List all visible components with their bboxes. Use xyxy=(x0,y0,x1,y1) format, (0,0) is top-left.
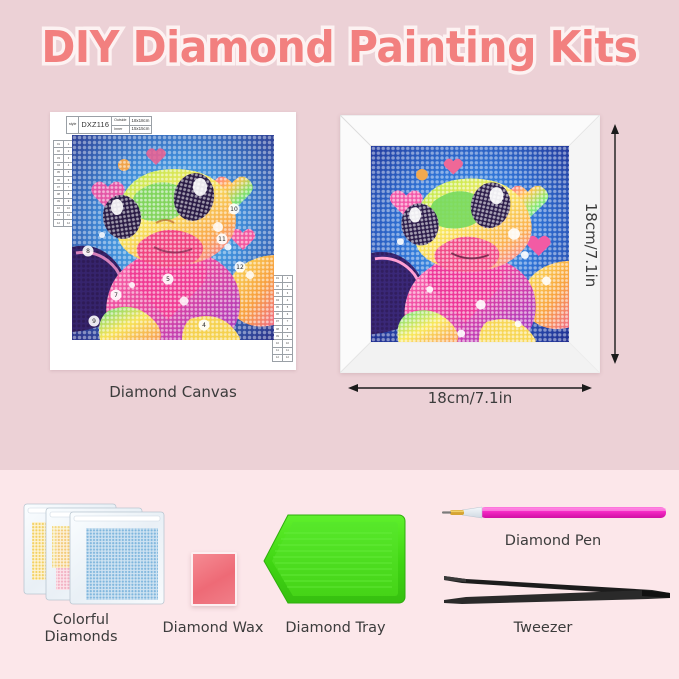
legend-index: 10 xyxy=(283,340,293,347)
turtle-artwork-svg: 10 11 12 5 7 9 4 8 xyxy=(72,135,274,340)
legend-row: 088 xyxy=(54,191,74,198)
svg-text:4: 4 xyxy=(202,322,206,329)
label-colorful-diamonds: Colorful Diamonds xyxy=(16,612,146,645)
colorful-diamonds-bags xyxy=(22,500,167,605)
label-diamond-wax: Diamond Wax xyxy=(158,620,268,637)
diamond-tray xyxy=(262,513,407,605)
legend-index: 12 xyxy=(283,354,293,361)
label-colorful-diamonds-line2: Diamonds xyxy=(16,629,146,646)
framed-artwork-card xyxy=(340,115,600,373)
legend-row: 055 xyxy=(54,169,74,176)
legend-index: 7 xyxy=(283,318,293,325)
legend-row: 1212 xyxy=(54,220,74,227)
legend-code: 06 xyxy=(273,311,283,318)
diamond-pen-svg xyxy=(440,505,666,521)
diamond-canvas-caption: Diamond Canvas xyxy=(50,383,296,401)
label-colorful-diamonds-line1: Colorful xyxy=(16,612,146,629)
legend-index: 5 xyxy=(283,304,293,311)
page-title: DIY Diamond Painting Kits xyxy=(0,22,679,82)
legend-row: 1010 xyxy=(273,340,293,347)
legend-code: 04 xyxy=(273,297,283,304)
spec-style-label: style xyxy=(67,117,79,134)
legend-index: 3 xyxy=(283,290,293,297)
diamond-tray-svg xyxy=(262,513,407,605)
legend-row: 1111 xyxy=(273,347,293,354)
svg-text:9: 9 xyxy=(92,318,96,325)
legend-code: 05 xyxy=(54,169,64,176)
diamond-bags-svg xyxy=(22,500,167,605)
svg-text:5: 5 xyxy=(166,276,170,283)
legend-index: 8 xyxy=(283,326,293,333)
legend-row: 077 xyxy=(54,184,74,191)
legend-index: 11 xyxy=(283,347,293,354)
tweezer xyxy=(442,570,670,606)
legend-code: 12 xyxy=(54,220,64,227)
legend-code: 11 xyxy=(54,212,64,219)
legend-row: 099 xyxy=(273,333,293,340)
legend-index: 2 xyxy=(283,282,293,289)
legend-index: 4 xyxy=(283,297,293,304)
legend-row: 044 xyxy=(54,162,74,169)
legend-code: 03 xyxy=(54,155,64,162)
legend-code: 07 xyxy=(273,318,283,325)
svg-text:7: 7 xyxy=(114,292,118,299)
legend-row: 1212 xyxy=(273,354,293,361)
legend-row: 066 xyxy=(54,176,74,183)
legend-row: 044 xyxy=(273,297,293,304)
diamond-canvas-card: style DXZ116 Outside 18x18cm Inner 15x15… xyxy=(50,112,296,370)
legend-code: 05 xyxy=(273,304,283,311)
diamond-pen xyxy=(440,505,666,521)
legend-row: 055 xyxy=(273,304,293,311)
color-legend-right: 011022033044055066077088099101011111212 xyxy=(272,275,293,362)
legend-row: 066 xyxy=(273,311,293,318)
canvas-spec-table: style DXZ116 Outside 18x18cm Inner 15x15… xyxy=(66,116,152,134)
legend-row: 1111 xyxy=(54,212,74,219)
legend-code: 09 xyxy=(54,198,64,205)
legend-code: 08 xyxy=(273,326,283,333)
framed-artwork-window xyxy=(371,146,569,342)
legend-index: 6 xyxy=(283,311,293,318)
legend-index: 9 xyxy=(283,333,293,340)
height-dimension-label: 18cm/7.1in xyxy=(582,180,600,310)
legend-code: 10 xyxy=(273,340,283,347)
legend-code: 03 xyxy=(273,290,283,297)
legend-code: 10 xyxy=(54,205,64,212)
legend-code: 04 xyxy=(54,162,64,169)
svg-text:11: 11 xyxy=(218,236,226,243)
legend-code: 06 xyxy=(54,176,64,183)
diamond-wax xyxy=(191,552,237,606)
legend-code: 12 xyxy=(273,354,283,361)
legend-code: 02 xyxy=(273,282,283,289)
label-tweezer: Tweezer xyxy=(478,620,608,637)
color-legend-left: 011022033044055066077088099101011111212 xyxy=(53,140,74,227)
spec-outside-label: Outside xyxy=(112,117,129,126)
svg-text:10: 10 xyxy=(230,206,238,213)
width-dimension-label: 18cm/7.1in xyxy=(348,389,592,407)
legend-code: 02 xyxy=(54,148,64,155)
svg-text:8: 8 xyxy=(86,248,90,255)
legend-row: 1010 xyxy=(54,205,74,212)
legend-code: 08 xyxy=(54,191,64,198)
legend-row: 011 xyxy=(273,275,293,282)
spec-inner-size: 15x15cm xyxy=(129,125,152,134)
spec-outside-size: 18x18cm xyxy=(129,117,152,126)
legend-row: 099 xyxy=(54,198,74,205)
spec-code: DXZ116 xyxy=(79,117,112,134)
legend-row: 033 xyxy=(273,290,293,297)
legend-index: 1 xyxy=(283,275,293,282)
legend-row: 011 xyxy=(54,141,74,148)
spec-inner-label: Inner xyxy=(112,125,129,134)
legend-code: 07 xyxy=(54,184,64,191)
legend-code: 09 xyxy=(273,333,283,340)
label-diamond-tray: Diamond Tray xyxy=(278,620,393,637)
legend-row: 077 xyxy=(273,318,293,325)
legend-row: 088 xyxy=(273,326,293,333)
height-dimension-arrow xyxy=(609,124,611,364)
legend-code: 01 xyxy=(54,141,64,148)
legend-row: 033 xyxy=(54,155,74,162)
product-infographic: DIY Diamond Painting Kits style DXZ116 O… xyxy=(0,0,679,679)
legend-row: 022 xyxy=(54,148,74,155)
legend-code: 11 xyxy=(273,347,283,354)
svg-text:12: 12 xyxy=(236,264,244,271)
width-dimension-arrow xyxy=(348,381,592,383)
label-diamond-pen: Diamond Pen xyxy=(478,533,628,550)
tweezer-svg xyxy=(442,570,670,606)
page-title-text: DIY Diamond Painting Kits xyxy=(41,22,637,73)
framed-turtle-artwork-svg xyxy=(371,146,569,342)
legend-row: 022 xyxy=(273,282,293,289)
legend-code: 01 xyxy=(273,275,283,282)
canvas-artwork: 10 11 12 5 7 9 4 8 xyxy=(72,135,274,340)
